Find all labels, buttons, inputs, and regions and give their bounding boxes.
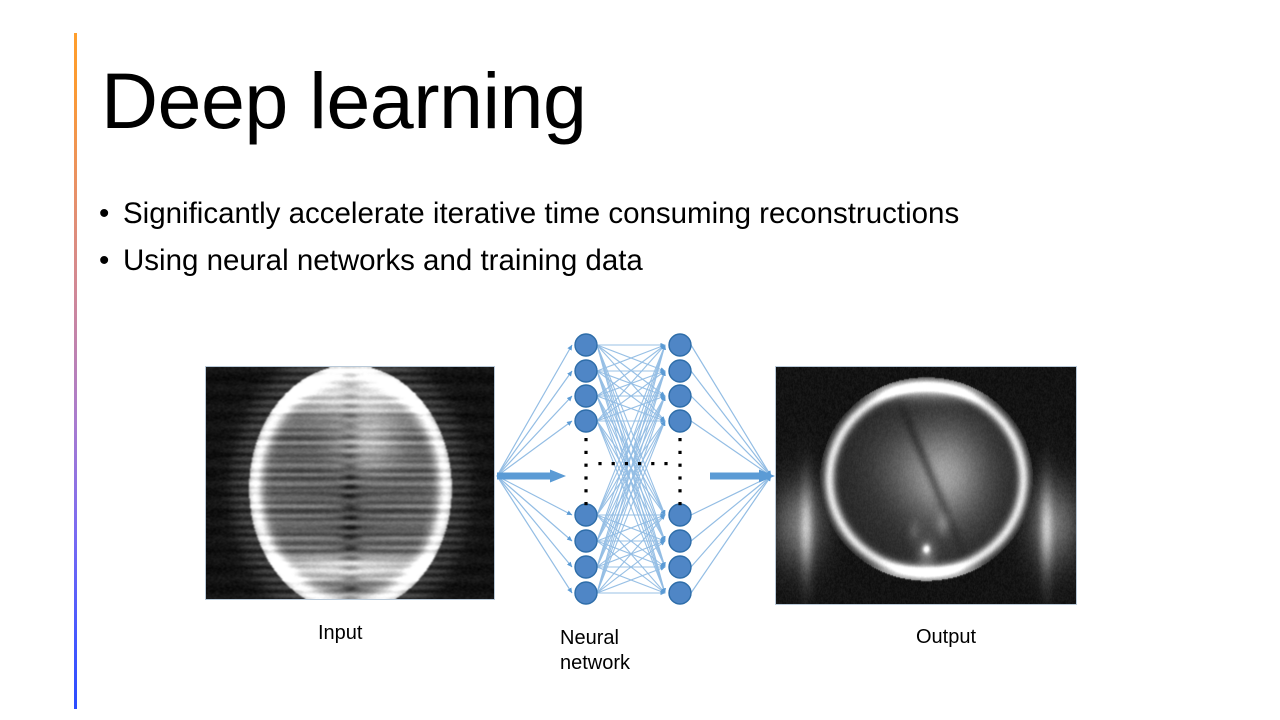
neural-network-diagram xyxy=(488,320,788,620)
network-caption-line2: network xyxy=(560,652,630,674)
network-caption-line1: Neural xyxy=(560,627,619,649)
output-mri-image xyxy=(775,366,1077,605)
input-caption: Input xyxy=(318,621,362,646)
network-caption: Neural network xyxy=(560,626,690,676)
deep-learning-pipeline-figure: Input Neural network Output xyxy=(0,0,1280,720)
slide-canvas: Deep learning • Significantly accelerate… xyxy=(0,0,1280,720)
output-caption: Output xyxy=(916,625,976,650)
input-mri-image xyxy=(205,366,495,600)
